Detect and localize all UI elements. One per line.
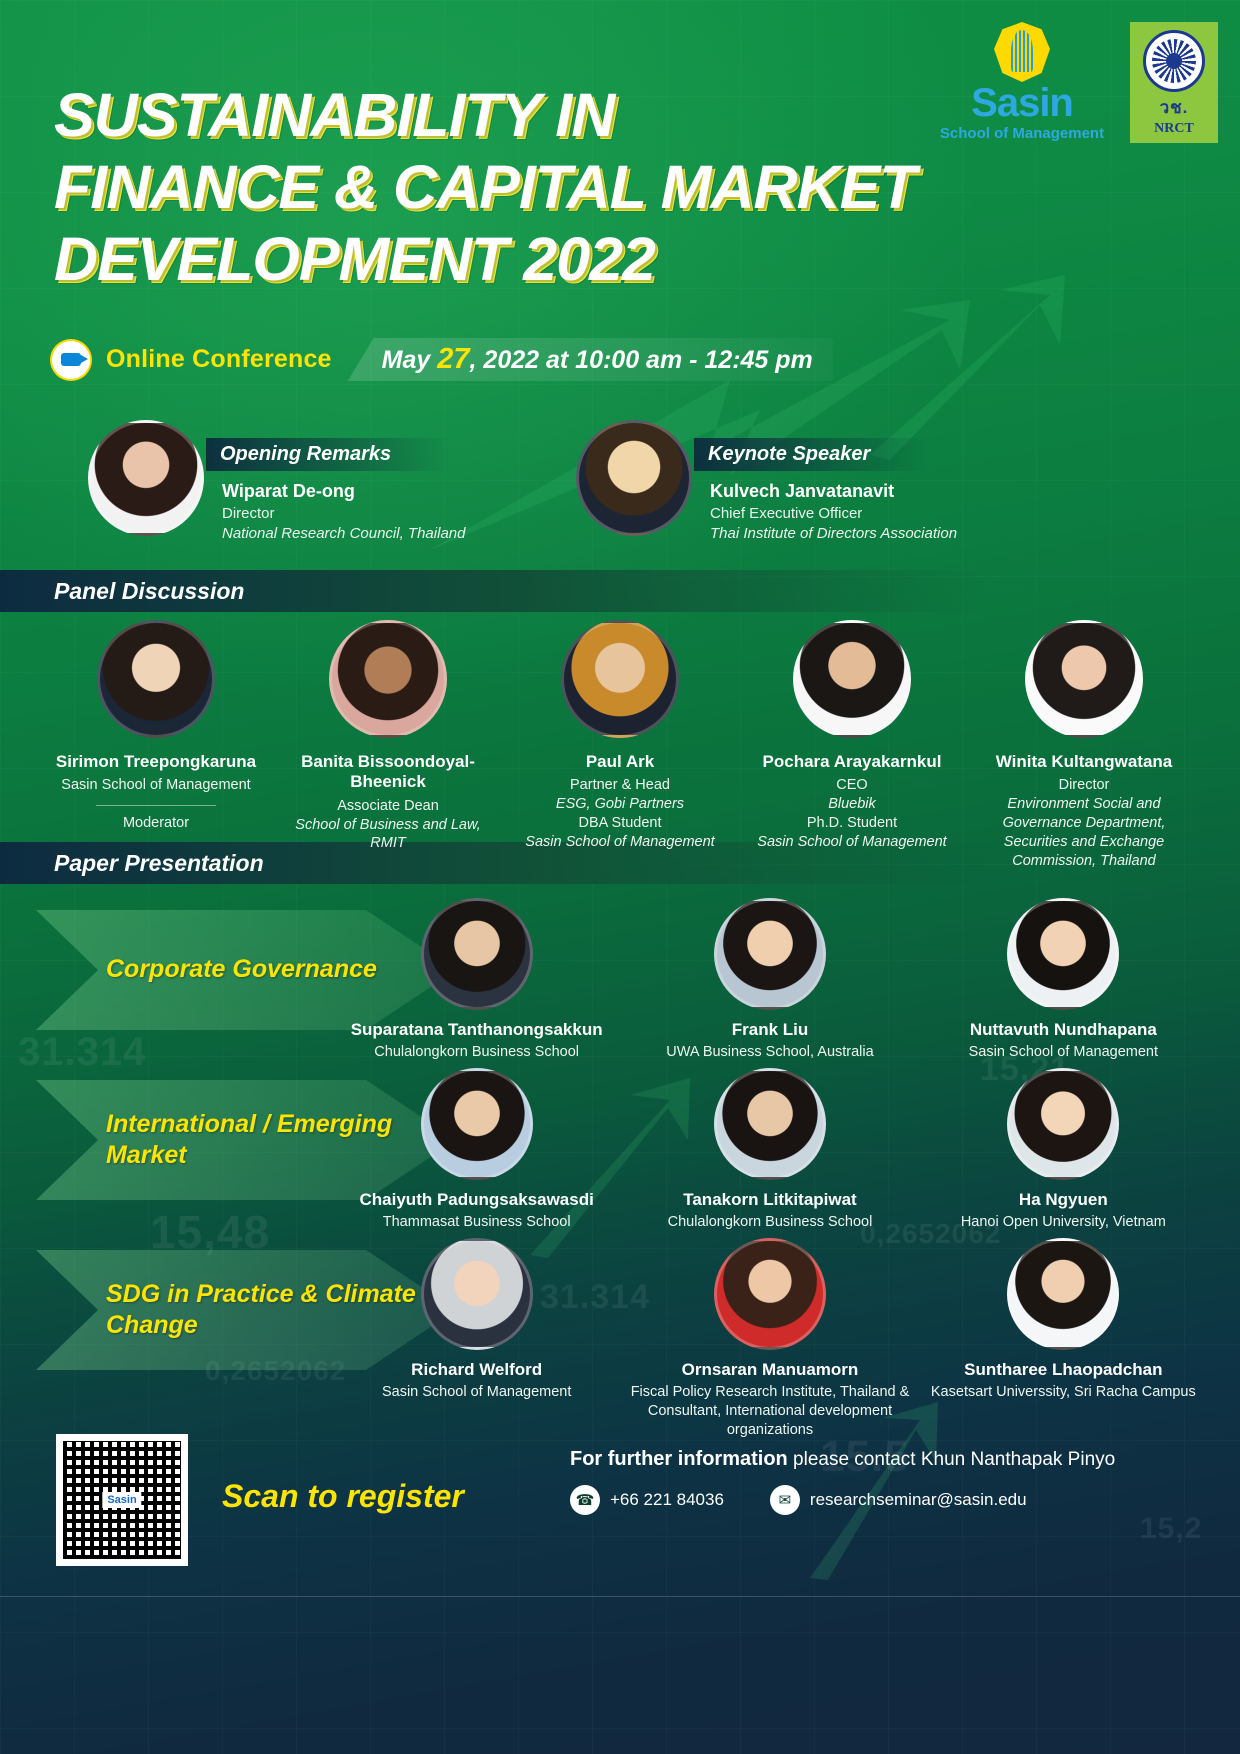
presenter: Tanakorn Litkitapiwat Chulalongkorn Busi… [623,1068,916,1232]
panel-member-name: Sirimon Treepongkaruna [46,752,266,772]
presenter-name: Frank Liu [623,1020,916,1040]
presenter: Chaiyuth Padungsaksawasdi Thammasat Busi… [330,1068,623,1232]
presenter-affiliation: Thammasat Business School [330,1213,623,1232]
qr-code-pattern [63,1441,181,1559]
panel-members: Sirimon Treepongkaruna Sasin School of M… [40,620,1200,871]
sasin-emblem-icon [994,22,1050,82]
panel-member: Pochara Arayakarnkul CEO Bluebik Ph.D. S… [736,620,968,871]
opening-speaker-affiliation: National Research Council, Thailand [222,524,465,544]
avatar [1025,620,1143,738]
avatar [329,620,447,738]
presenter: Ha Ngyuen Hanoi Open University, Vietnam [917,1068,1210,1232]
footer-divider [0,1596,1240,1597]
avatar [421,898,533,1010]
opening-speaker-title: Director [222,504,465,524]
keynote-block: Keynote Speaker Kulvech Janvatanavit Chi… [576,420,957,544]
presenter-name: Suntharee Lhaopadchan [917,1360,1210,1380]
avatar [714,1238,826,1350]
panel-member-extra-affiliation: Sasin School of Management [510,833,730,852]
phone-icon: ☎ [570,1485,600,1515]
presenter: Suparatana Tanthanongsakkun Chulalongkor… [330,898,623,1062]
presenter-affiliation: Hanoi Open University, Vietnam [917,1213,1210,1232]
presenter-affiliation: Chulalongkorn Business School [623,1213,916,1232]
background-number: 15,2 [1140,1512,1202,1546]
logo-group: Sasin School of Management วช. NRCT [932,22,1218,143]
email-address[interactable]: researchseminar@sasin.edu [810,1490,1027,1510]
panel-member-name: Winita Kultangwatana [974,752,1194,772]
date-suffix: , 2022 at 10:00 am - 12:45 pm [470,346,813,374]
avatar [576,420,692,536]
conference-datetime: May 27, 2022 at 10:00 am - 12:45 pm [348,338,833,381]
date-prefix: May [382,346,438,374]
panel-discussion-ribbon: Panel Discussion [0,570,1240,612]
poster-title: SUSTAINABILITY IN FINANCE & CAPITAL MARK… [54,80,916,296]
opening-role-label: Opening Remarks [206,438,451,471]
panel-member-name: Banita Bissoondoyal-Bheenick [278,752,498,793]
nrct-seal-icon [1143,30,1205,92]
phone-row[interactable]: ☎ +66 221 84036 [570,1485,724,1515]
avatar [1007,1068,1119,1180]
paper-track: Corporate Governance Suparatana Tanthano… [0,898,1240,1068]
presenter-affiliation: Sasin School of Management [917,1043,1210,1062]
qr-code[interactable] [56,1434,188,1566]
panel-member-title: Associate Dean [278,797,498,816]
panel-member-extra-title: DBA Student [510,814,730,833]
sasin-wordmark: Sasin [932,84,1112,122]
panel-member-extra-title: Ph.D. Student [742,814,962,833]
avatar [88,420,204,536]
presenter-name: Tanakorn Litkitapiwat [623,1190,916,1210]
presenter-name: Nuttavuth Nundhapana [917,1020,1210,1040]
title-line-1: SUSTAINABILITY IN [54,80,916,152]
scan-to-register-label: Scan to register [222,1478,464,1515]
avatar [421,1068,533,1180]
keynote-speaker-affiliation: Thai Institute of Directors Association [710,524,957,544]
panel-member: Sirimon Treepongkaruna Sasin School of M… [40,620,272,871]
avatar [714,898,826,1010]
track-presenters: Richard Welford Sasin School of Manageme… [330,1238,1210,1440]
contact-heading: For further information please contact K… [570,1448,1115,1471]
paper-track: SDG in Practice & Climate Change Richard… [0,1238,1240,1408]
panel-member-name: Pochara Arayakarnkul [742,752,962,772]
presenter-affiliation: Fiscal Policy Research Institute, Thaila… [623,1383,916,1440]
presenter-name: Richard Welford [330,1360,623,1380]
presenter-name: Chaiyuth Padungsaksawasdi [330,1190,623,1210]
panel-member-affiliation: Sasin School of Management [46,776,266,795]
envelope-icon: ✉ [770,1485,800,1515]
presenter: Nuttavuth Nundhapana Sasin School of Man… [917,898,1210,1062]
conference-info: Online Conference May 27, 2022 at 10:00 … [52,338,833,381]
presenter-name: Ha Ngyuen [917,1190,1210,1210]
paper-track: International / Emerging Market Chaiyuth… [0,1068,1240,1238]
presenter: Frank Liu UWA Business School, Australia [623,898,916,1062]
track-presenters: Suparatana Tanthanongsakkun Chulalongkor… [330,898,1210,1062]
track-presenters: Chaiyuth Padungsaksawasdi Thammasat Busi… [330,1068,1210,1232]
nrct-thai-label: วช. [1134,94,1214,121]
avatar [97,620,215,738]
panel-section-title: Panel Discussion [54,578,244,605]
sasin-logo: Sasin School of Management [932,22,1112,142]
presenter-affiliation: UWA Business School, Australia [623,1043,916,1062]
presenter: Richard Welford Sasin School of Manageme… [330,1238,623,1440]
panel-member-affiliation: School of Business and Law, RMIT [278,816,498,854]
opening-speaker-name: Wiparat De-ong [222,481,465,502]
opening-remarks-block: Opening Remarks Wiparat De-ong Director … [88,420,465,544]
date-day: 27 [437,343,469,375]
contact-info: For further information please contact K… [570,1448,1115,1515]
avatar [793,620,911,738]
panel-member-title: CEO [742,776,962,795]
avatar [1007,898,1119,1010]
keynote-speaker-title: Chief Executive Officer [710,504,957,524]
panel-member-extra-affiliation: Sasin School of Management [742,833,962,852]
title-line-3: DEVELOPMENT 2022 [54,224,916,296]
panel-member-affiliation: Environment Social and Governance Depart… [974,795,1194,870]
panel-member: Winita Kultangwatana Director Environmen… [968,620,1200,871]
email-row[interactable]: ✉ researchseminar@sasin.edu [770,1485,1027,1515]
avatar [421,1238,533,1350]
nrct-english-label: NRCT [1134,121,1214,137]
presenter-affiliation: Chulalongkorn Business School [330,1043,623,1062]
contact-heading-bold: For further information [570,1448,788,1470]
panel-member-name: Paul Ark [510,752,730,772]
nrct-logo: วช. NRCT [1130,22,1218,143]
panel-member-title: Director [974,776,1194,795]
sasin-tagline: School of Management [932,125,1112,142]
phone-number[interactable]: +66 221 84036 [610,1490,724,1510]
panel-divider [96,805,216,806]
presenter: Suntharee Lhaopadchan Kasetsart Universs… [917,1238,1210,1440]
title-line-2: FINANCE & CAPITAL MARKET [54,152,916,224]
avatar [714,1068,826,1180]
contact-heading-rest: please contact Khun Nanthapak Pinyo [788,1449,1115,1470]
presenter-affiliation: Kasetsart Universsity, Sri Racha Campus [917,1383,1210,1402]
conference-mode-label: Online Conference [106,345,332,374]
panel-member: Banita Bissoondoyal-Bheenick Associate D… [272,620,504,871]
panel-member-role-note: Moderator [46,814,266,833]
keynote-speaker-name: Kulvech Janvatanavit [710,481,957,502]
presenter-name: Ornsaran Manuamorn [623,1360,916,1380]
panel-member: Paul Ark Partner & Head ESG, Gobi Partne… [504,620,736,871]
avatar [1007,1238,1119,1350]
video-camera-icon [52,341,90,379]
presenter: Ornsaran Manuamorn Fiscal Policy Researc… [623,1238,916,1440]
presenter-affiliation: Sasin School of Management [330,1383,623,1402]
presenter-name: Suparatana Tanthanongsakkun [330,1020,623,1040]
panel-member-affiliation: ESG, Gobi Partners [510,795,730,814]
keynote-role-label: Keynote Speaker [694,438,930,471]
avatar [561,620,679,738]
panel-member-title: Partner & Head [510,776,730,795]
panel-member-affiliation: Bluebik [742,795,962,814]
